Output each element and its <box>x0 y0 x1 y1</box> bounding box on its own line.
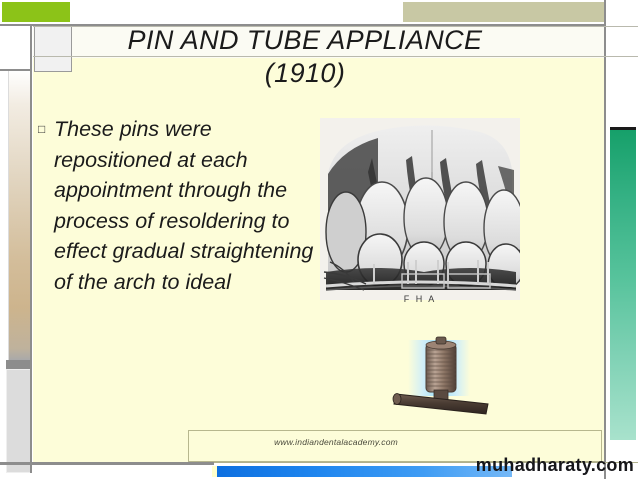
square-bullet-icon: □ <box>38 114 54 144</box>
left-gray-swatch <box>34 26 72 72</box>
left-lower-gray-box <box>6 369 32 473</box>
figure-caption: F H A <box>320 294 520 304</box>
page-title: PIN AND TUBE APPLIANCE (1910) <box>70 24 540 90</box>
footer-blue-bar-cap <box>212 466 217 477</box>
dental-arch-figure: F H A <box>320 114 520 310</box>
left-strip-divider <box>6 360 32 369</box>
dental-arch-drawing <box>320 114 520 310</box>
left-white-block <box>2 26 30 70</box>
footer-source-url: www.indiandentalacademy.com <box>196 437 476 447</box>
tan-accent-chip <box>403 2 604 22</box>
right-white-block <box>606 26 638 127</box>
brand-watermark: muhadharaty.com <box>476 455 634 476</box>
bullet-body-text: These pins were repositioned at each app… <box>54 114 328 297</box>
rule-left-vertical <box>30 24 32 473</box>
appliance-photo-drawing <box>388 334 500 420</box>
appliance-photo-figure <box>388 334 500 420</box>
green-accent-chip <box>2 2 70 22</box>
left-gradient-strip <box>8 70 31 360</box>
rule-right-vertical <box>604 0 606 479</box>
title-line-1: PIN AND TUBE APPLIANCE <box>70 24 540 57</box>
rule-left-horizontal <box>0 69 32 71</box>
top-white-band <box>70 2 403 22</box>
title-line-2: (1910) <box>70 57 540 90</box>
footer-blue-bar <box>216 466 512 477</box>
bullet-list-item: □ These pins were repositioned at each a… <box>38 114 328 297</box>
top-right-white-block <box>604 0 638 26</box>
slide: PIN AND TUBE APPLIANCE (1910) □ These pi… <box>0 0 638 479</box>
right-green-gradient-strip <box>610 127 636 440</box>
footer-left-rule <box>0 462 214 465</box>
